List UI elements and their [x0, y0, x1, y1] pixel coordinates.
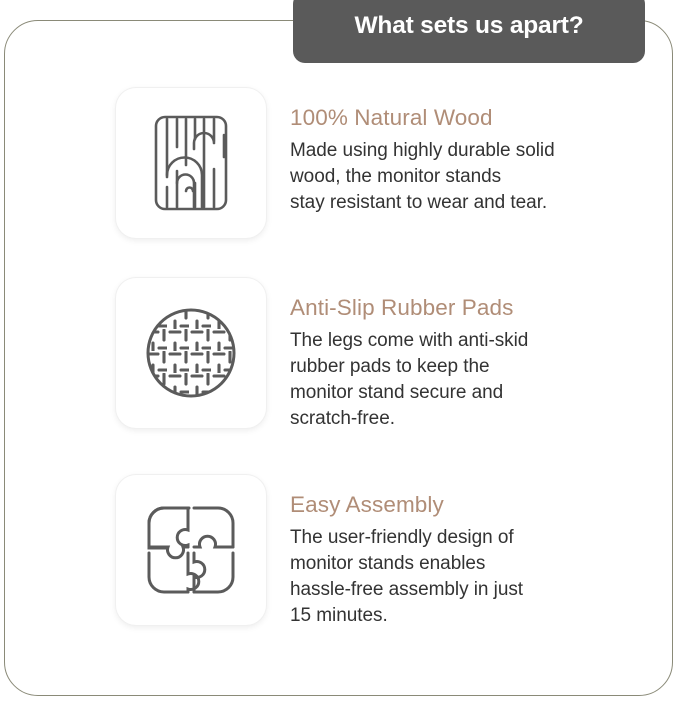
feature-icon-container	[116, 88, 266, 238]
feature-item: 100% Natural Wood Made using highly dura…	[116, 88, 661, 238]
section-title-banner: What sets us apart?	[293, 0, 645, 63]
puzzle-pieces-icon	[145, 504, 237, 596]
feature-description: The legs come with anti-skid rubber pads…	[290, 328, 528, 432]
feature-text-block: Anti-Slip Rubber Pads The legs come with…	[266, 278, 528, 432]
wood-grain-icon	[148, 113, 234, 213]
section-title: What sets us apart?	[355, 12, 584, 44]
feature-item: Anti-Slip Rubber Pads The legs come with…	[116, 278, 661, 432]
feature-description: Made using highly durable solid wood, th…	[290, 138, 555, 216]
feature-item: Easy Assembly The user-friendly design o…	[116, 475, 661, 629]
feature-text-block: Easy Assembly The user-friendly design o…	[266, 475, 523, 629]
feature-title: Easy Assembly	[290, 493, 523, 518]
feature-title: Anti-Slip Rubber Pads	[290, 296, 528, 321]
feature-text-block: 100% Natural Wood Made using highly dura…	[266, 88, 555, 216]
rubber-pad-texture-icon	[145, 307, 237, 399]
feature-title: 100% Natural Wood	[290, 106, 555, 131]
feature-list: 100% Natural Wood Made using highly dura…	[116, 88, 661, 629]
feature-icon-container	[116, 475, 266, 625]
feature-icon-container	[116, 278, 266, 428]
feature-description: The user-friendly design of monitor stan…	[290, 525, 523, 629]
